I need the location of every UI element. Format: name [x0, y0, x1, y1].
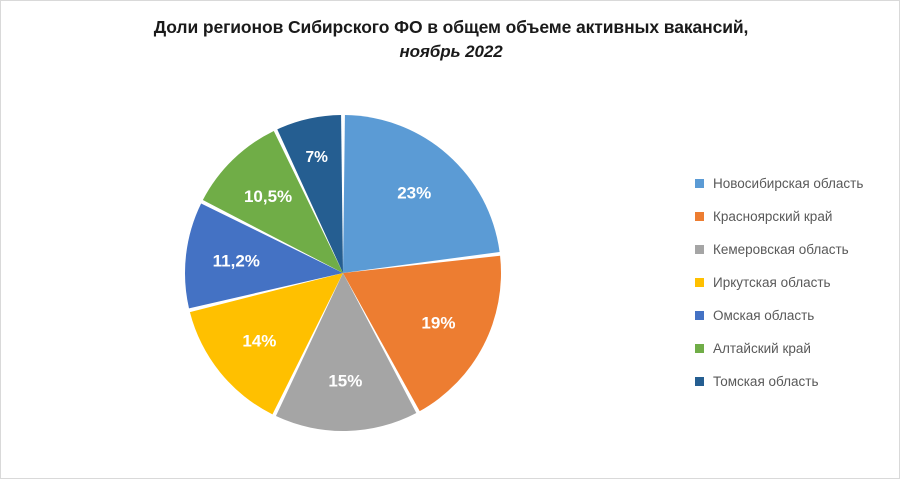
- legend-swatch-icon: [695, 212, 704, 221]
- legend-item-label: Томская область: [713, 374, 819, 389]
- legend-swatch-icon: [695, 278, 704, 287]
- legend-item[interactable]: Алтайский край: [695, 332, 895, 365]
- legend-item-label: Иркутская область: [713, 275, 831, 290]
- legend-swatch-icon: [695, 311, 704, 320]
- pie-plot-area: 23%19%15%14%11,2%10,5%7%: [1, 1, 561, 480]
- legend-item-label: Красноярский край: [713, 209, 832, 224]
- pie-slice-label: 11,2%: [213, 252, 260, 271]
- legend-item-label: Алтайский край: [713, 341, 811, 356]
- pie-slice-label: 7%: [306, 149, 329, 166]
- legend-swatch-icon: [695, 179, 704, 188]
- legend-item-label: Новосибирская область: [713, 176, 863, 191]
- pie-slice-label: 15%: [328, 371, 362, 390]
- legend-item[interactable]: Омская область: [695, 299, 895, 332]
- legend-item[interactable]: Красноярский край: [695, 200, 895, 233]
- legend-swatch-icon: [695, 344, 704, 353]
- legend-item[interactable]: Иркутская область: [695, 266, 895, 299]
- legend-item[interactable]: Томская область: [695, 365, 895, 398]
- pie-slice-label: 23%: [397, 184, 431, 203]
- legend-item[interactable]: Кемеровская область: [695, 233, 895, 266]
- pie-slice-label: 10,5%: [244, 187, 292, 206]
- legend-swatch-icon: [695, 245, 704, 254]
- pie-svg: 23%19%15%14%11,2%10,5%7%: [1, 1, 561, 480]
- legend-item-label: Кемеровская область: [713, 242, 849, 257]
- legend-swatch-icon: [695, 377, 704, 386]
- pie-chart-figure: Доли регионов Сибирского ФО в общем объе…: [0, 0, 900, 479]
- pie-slice-label: 14%: [242, 331, 276, 350]
- pie-slice-label: 19%: [421, 313, 455, 332]
- legend-item[interactable]: Новосибирская область: [695, 167, 895, 200]
- chart-legend: Новосибирская областьКрасноярский крайКе…: [695, 167, 895, 398]
- legend-item-label: Омская область: [713, 308, 814, 323]
